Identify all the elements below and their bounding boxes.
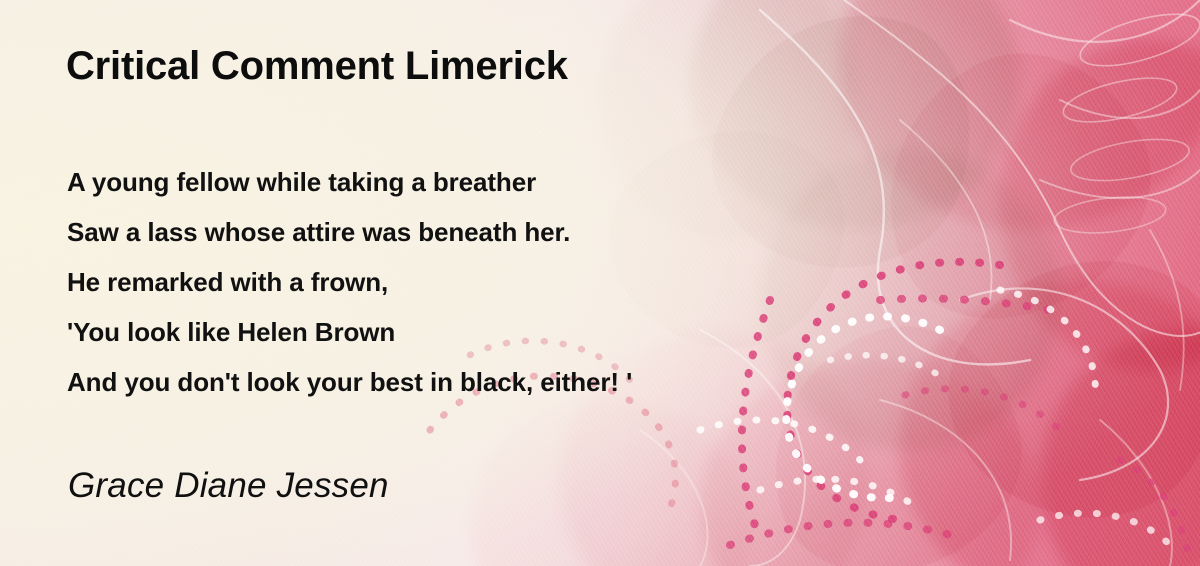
- poem-content: Critical Comment Limerick A young fellow…: [0, 0, 1200, 566]
- poem-title: Critical Comment Limerick: [66, 44, 568, 89]
- poem-image-card: Critical Comment Limerick A young fellow…: [0, 0, 1200, 566]
- poem-line: Saw a lass whose attire was beneath her.: [67, 207, 632, 257]
- poem-line: 'You look like Helen Brown: [67, 307, 632, 357]
- poem-line: He remarked with a frown,: [67, 257, 632, 307]
- poem-body: A young fellow while taking a breather S…: [67, 157, 632, 407]
- poem-line: And you don't look your best in black, e…: [67, 357, 632, 407]
- poem-author-name: Grace Diane Jessen: [68, 466, 389, 506]
- poem-line: A young fellow while taking a breather: [67, 157, 632, 207]
